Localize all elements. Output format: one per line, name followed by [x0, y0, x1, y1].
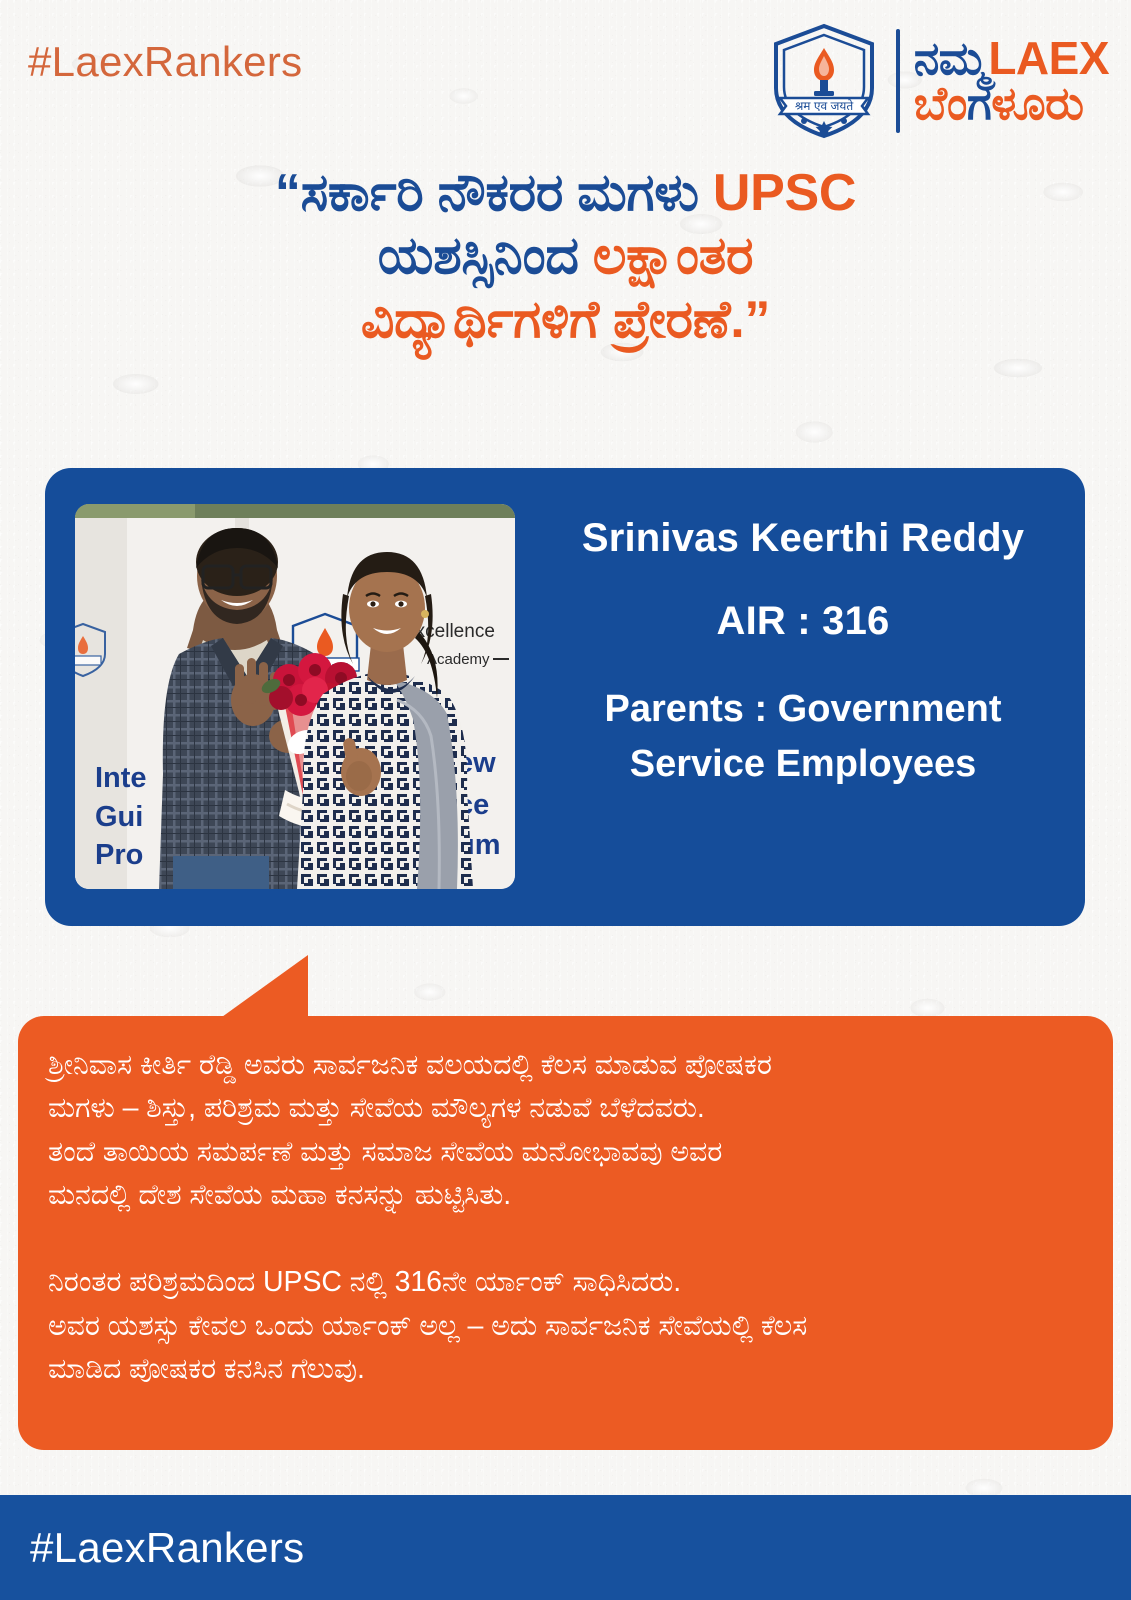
story-p2-line2: ಅವರ ಯಶಸ್ಸು ಕೇವಲ ಒಂದು ರ್ಯಾಂಕ್ ಅಲ್ಲ – ಅದು … — [48, 1305, 1083, 1348]
headline-line-2-orange: ಲಕ್ಷಾಂತರ — [593, 227, 753, 285]
brand-line-1: ನಮ್ಮLAEX — [914, 37, 1109, 80]
headline-line-2: ಯಶಸ್ಸಿನಿಂದ ಲಕ್ಷಾಂತರ — [0, 225, 1131, 288]
svg-text:Inte: Inte — [95, 762, 147, 794]
poster-canvas: #LaexRankers श्रम एव जयते — [0, 0, 1131, 1600]
brand-line-2: ಬೆಂಗಳೂರು — [914, 82, 1109, 125]
headline-line-1: “ಸರ್ಕಾರಿ ನೌಕರರ ಮಗಳು UPSC — [0, 162, 1131, 225]
profile-card: Excellence IAS Excellence Academy Inte G… — [45, 468, 1085, 926]
story-paragraph-2: ನಿರಂತರ ಪರಿಶ್ರಮದಿಂದ UPSC ನಲ್ಲಿ 316ನೇ ರ್ಯಾ… — [48, 1261, 1083, 1391]
story-box: ಶ್ರೀನಿವಾಸ ಕೀರ್ತಿ ರೆಡ್ಡಿ ಅವರು ಸಾರ್ವಜನಿಕ ವ… — [18, 1016, 1113, 1450]
candidate-parents: Parents : Government Service Employees — [535, 682, 1071, 792]
poster-header: #LaexRankers श्रम एव जयते — [0, 0, 1131, 160]
story-paragraph-1: ಶ್ರೀನಿವಾಸ ಕೀರ್ತಿ ರೆಡ್ಡಿ ಅವರು ಸಾರ್ವಜನಿಕ ವ… — [48, 1044, 1083, 1217]
brand-wordmark: ನಮ್ಮLAEX ಬೆಂಗಳೂರು — [914, 37, 1109, 125]
brand-bengaluru-1: ಬೆಂ — [914, 77, 967, 129]
felicitation-photo: Excellence IAS Excellence Academy Inte G… — [75, 504, 515, 889]
brand-laex: LAEX — [988, 32, 1109, 84]
headline-line-1-blue: “ಸರ್ಕಾರಿ ನೌಕರರ ಮಗಳು — [275, 164, 713, 222]
poster-footer: #LaexRankers — [0, 1495, 1131, 1600]
svg-text:Academy: Academy — [427, 651, 490, 668]
headline-line-2-blue: ಯಶಸ್ಸಿನಿಂದ — [378, 227, 593, 285]
headline-line-1-orange: UPSC — [713, 164, 856, 222]
headline-line-3: ವಿದ್ಯಾರ್ಥಿಗಳಿಗೆ ಪ್ರೇರಣೆ.” — [0, 289, 1131, 352]
headline-line-3-orange: ವಿದ್ಯಾರ್ಥಿಗಳಿಗೆ ಪ್ರೇರಣೆ.” — [361, 291, 770, 349]
parents-line-2: Service Employees — [535, 737, 1071, 792]
story-p1-line2: ಮಗಳು – ಶಿಸ್ತು, ಪರಿಶ್ರಮ ಮತ್ತು ಸೇವೆಯ ಮೌಲ್ಯ… — [48, 1087, 1083, 1130]
parents-line-1: Parents : Government — [605, 688, 1002, 730]
brand-bengaluru-2: ಗ — [967, 77, 991, 129]
shield-torch-emblem-icon: श्रम एव जयते — [766, 22, 882, 140]
brand-namma: ನಮ್ಮ — [914, 32, 989, 84]
svg-text:Pro: Pro — [95, 839, 143, 871]
brand-divider — [896, 29, 900, 133]
header-hashtag: #LaexRankers — [28, 38, 302, 86]
story-p2-line1: ನಿರಂತರ ಪರಿಶ್ರಮದಿಂದ UPSC ನಲ್ಲಿ 316ನೇ ರ್ಯಾ… — [48, 1261, 1083, 1304]
story-p2-line3: ಮಾಡಿದ ಪೋಷಕರ ಕನಸಿನ ಗೆಲುವು. — [48, 1348, 1083, 1391]
footer-hashtag: #LaexRankers — [30, 1524, 304, 1572]
story-p1-line1: ಶ್ರೀನಿವಾಸ ಕೀರ್ತಿ ರೆಡ್ಡಿ ಅವರು ಸಾರ್ವಜನಿಕ ವ… — [48, 1044, 1083, 1087]
headline-quote: “ಸರ್ಕಾರಿ ನೌಕರರ ಮಗಳು UPSC ಯಶಸ್ಸಿನಿಂದ ಲಕ್ಷ… — [0, 162, 1131, 352]
brand-bengaluru-3: ಳೂರು — [991, 77, 1083, 129]
story-p1-line4: ಮನದಲ್ಲಿ ದೇಶ ಸೇವೆಯ ಮಹಾ ಕನಸನ್ನು ಹುಟ್ಟಿಸಿತು… — [48, 1174, 1083, 1217]
svg-text:श्रम एव जयते: श्रम एव जयते — [795, 99, 855, 113]
profile-details: Srinivas Keerthi Reddy AIR : 316 Parents… — [535, 516, 1071, 792]
story-p1-line3: ತಂದೆ ತಾಯಿಯ ಸಮರ್ಪಣೆ ಮತ್ತು ಸಮಾಜ ಸೇವೆಯ ಮನೋಭ… — [48, 1131, 1083, 1174]
svg-text:Gui: Gui — [95, 801, 143, 833]
candidate-name: Srinivas Keerthi Reddy — [535, 516, 1071, 561]
candidate-air-rank: AIR : 316 — [535, 599, 1071, 644]
brand-lockup: श्रम एव जयते ನಮ್ಮLAEX ಬೆಂಗಳೂರು — [766, 22, 1109, 140]
